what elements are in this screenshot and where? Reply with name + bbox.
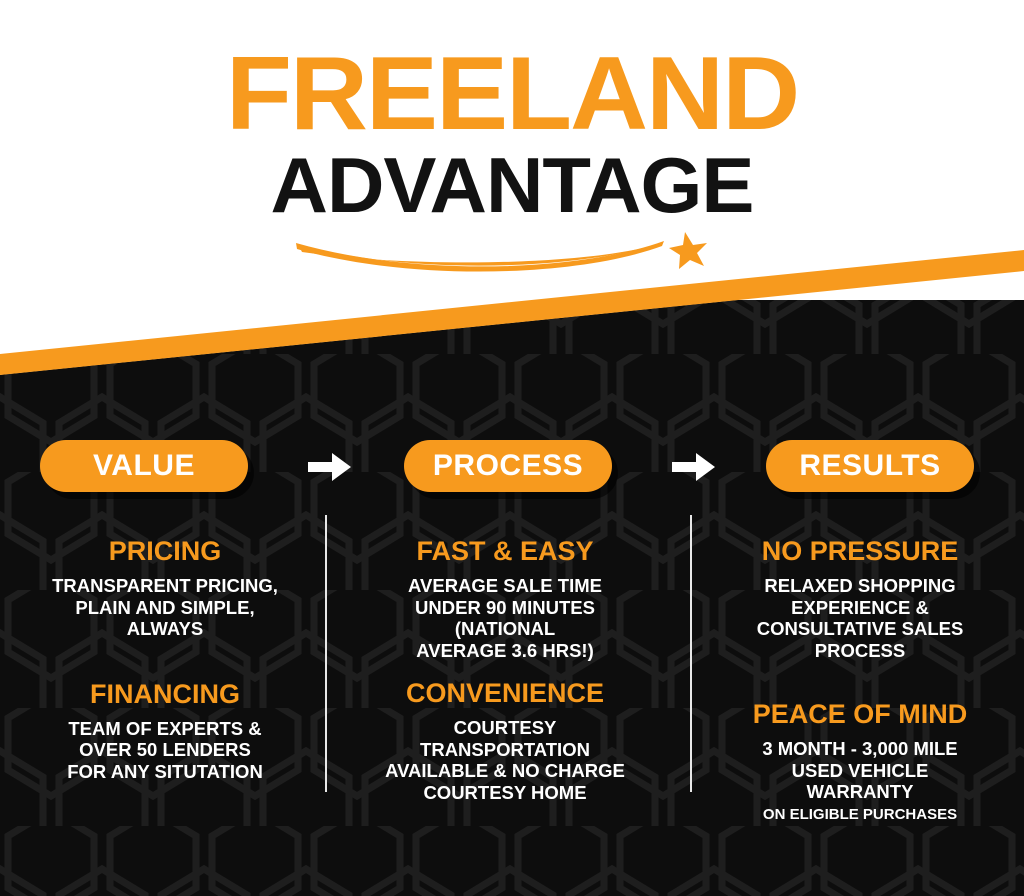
feature-heading: PEACE OF MIND	[710, 698, 1010, 730]
feature-block-peace-of-mind: PEACE OF MIND 3 MONTH - 3,000 MILEUSED V…	[710, 698, 1010, 824]
feature-body: 3 MONTH - 3,000 MILEUSED VEHICLEWARRANTY	[710, 738, 1010, 803]
column-value: PRICING TRANSPARENT PRICING,PLAIN AND SI…	[15, 535, 315, 782]
feature-block-convenience: CONVENIENCE COURTESYTRANSPORTATIONAVAILA…	[355, 677, 655, 803]
feature-block-no-pressure: NO PRESSURE RELAXED SHOPPINGEXPERIENCE &…	[710, 535, 1010, 661]
feature-block-financing: FINANCING TEAM OF EXPERTS &OVER 50 LENDE…	[15, 678, 315, 783]
feature-body: AVERAGE SALE TIMEUNDER 90 MINUTES(NATION…	[355, 575, 655, 661]
feature-body: TEAM OF EXPERTS &OVER 50 LENDERSFOR ANY …	[15, 718, 315, 783]
column-process: FAST & EASY AVERAGE SALE TIMEUNDER 90 MI…	[355, 535, 655, 803]
arrow-right-icon	[672, 452, 716, 482]
feature-footnote: ON ELIGIBLE PURCHASES	[710, 805, 1010, 824]
arrow-right-icon	[308, 452, 352, 482]
stage-pill-value[interactable]: VALUE	[40, 440, 248, 492]
column-results: NO PRESSURE RELAXED SHOPPINGEXPERIENCE &…	[710, 535, 1010, 824]
feature-heading: FAST & EASY	[355, 535, 655, 567]
feature-heading: FINANCING	[15, 678, 315, 710]
stage-pill-process[interactable]: PROCESS	[404, 440, 612, 492]
feature-body: TRANSPARENT PRICING,PLAIN AND SIMPLE,ALW…	[15, 575, 315, 640]
feature-heading: PRICING	[15, 535, 315, 567]
feature-body: COURTESYTRANSPORTATIONAVAILABLE & NO CHA…	[355, 717, 655, 803]
feature-block-fast-and-easy: FAST & EASY AVERAGE SALE TIMEUNDER 90 MI…	[355, 535, 655, 661]
feature-body: RELAXED SHOPPINGEXPERIENCE &CONSULTATIVE…	[710, 575, 1010, 661]
column-divider	[325, 515, 327, 792]
stage-pill-results[interactable]: RESULTS	[766, 440, 974, 492]
feature-heading: NO PRESSURE	[710, 535, 1010, 567]
column-divider	[690, 515, 692, 792]
infographic-page: FREELAND ADVANTAGE VALUE PROCESS RESULTS	[0, 0, 1024, 896]
stage-pill-row: VALUE PROCESS RESULTS	[0, 440, 1024, 492]
feature-heading: CONVENIENCE	[355, 677, 655, 709]
feature-block-pricing: PRICING TRANSPARENT PRICING,PLAIN AND SI…	[15, 535, 315, 640]
content-layer: VALUE PROCESS RESULTS PRICING TRANSPAREN…	[0, 0, 1024, 896]
